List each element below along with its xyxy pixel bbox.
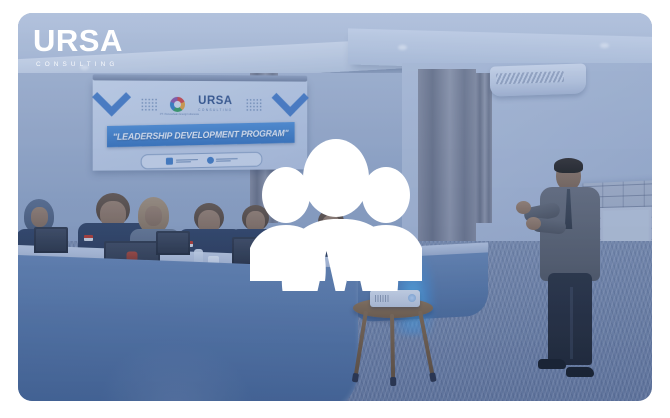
brand-tagline: CONSULTING [36, 61, 123, 68]
photo-card: PT. Perusahaan Energi Indonesia URSA CON… [18, 13, 652, 401]
brand-logo: URSA CONSULTING [33, 25, 123, 68]
people-group-icon [250, 133, 422, 291]
brand-name: URSA [33, 25, 123, 56]
page-root: PT. Perusahaan Energi Indonesia URSA CON… [0, 0, 670, 418]
